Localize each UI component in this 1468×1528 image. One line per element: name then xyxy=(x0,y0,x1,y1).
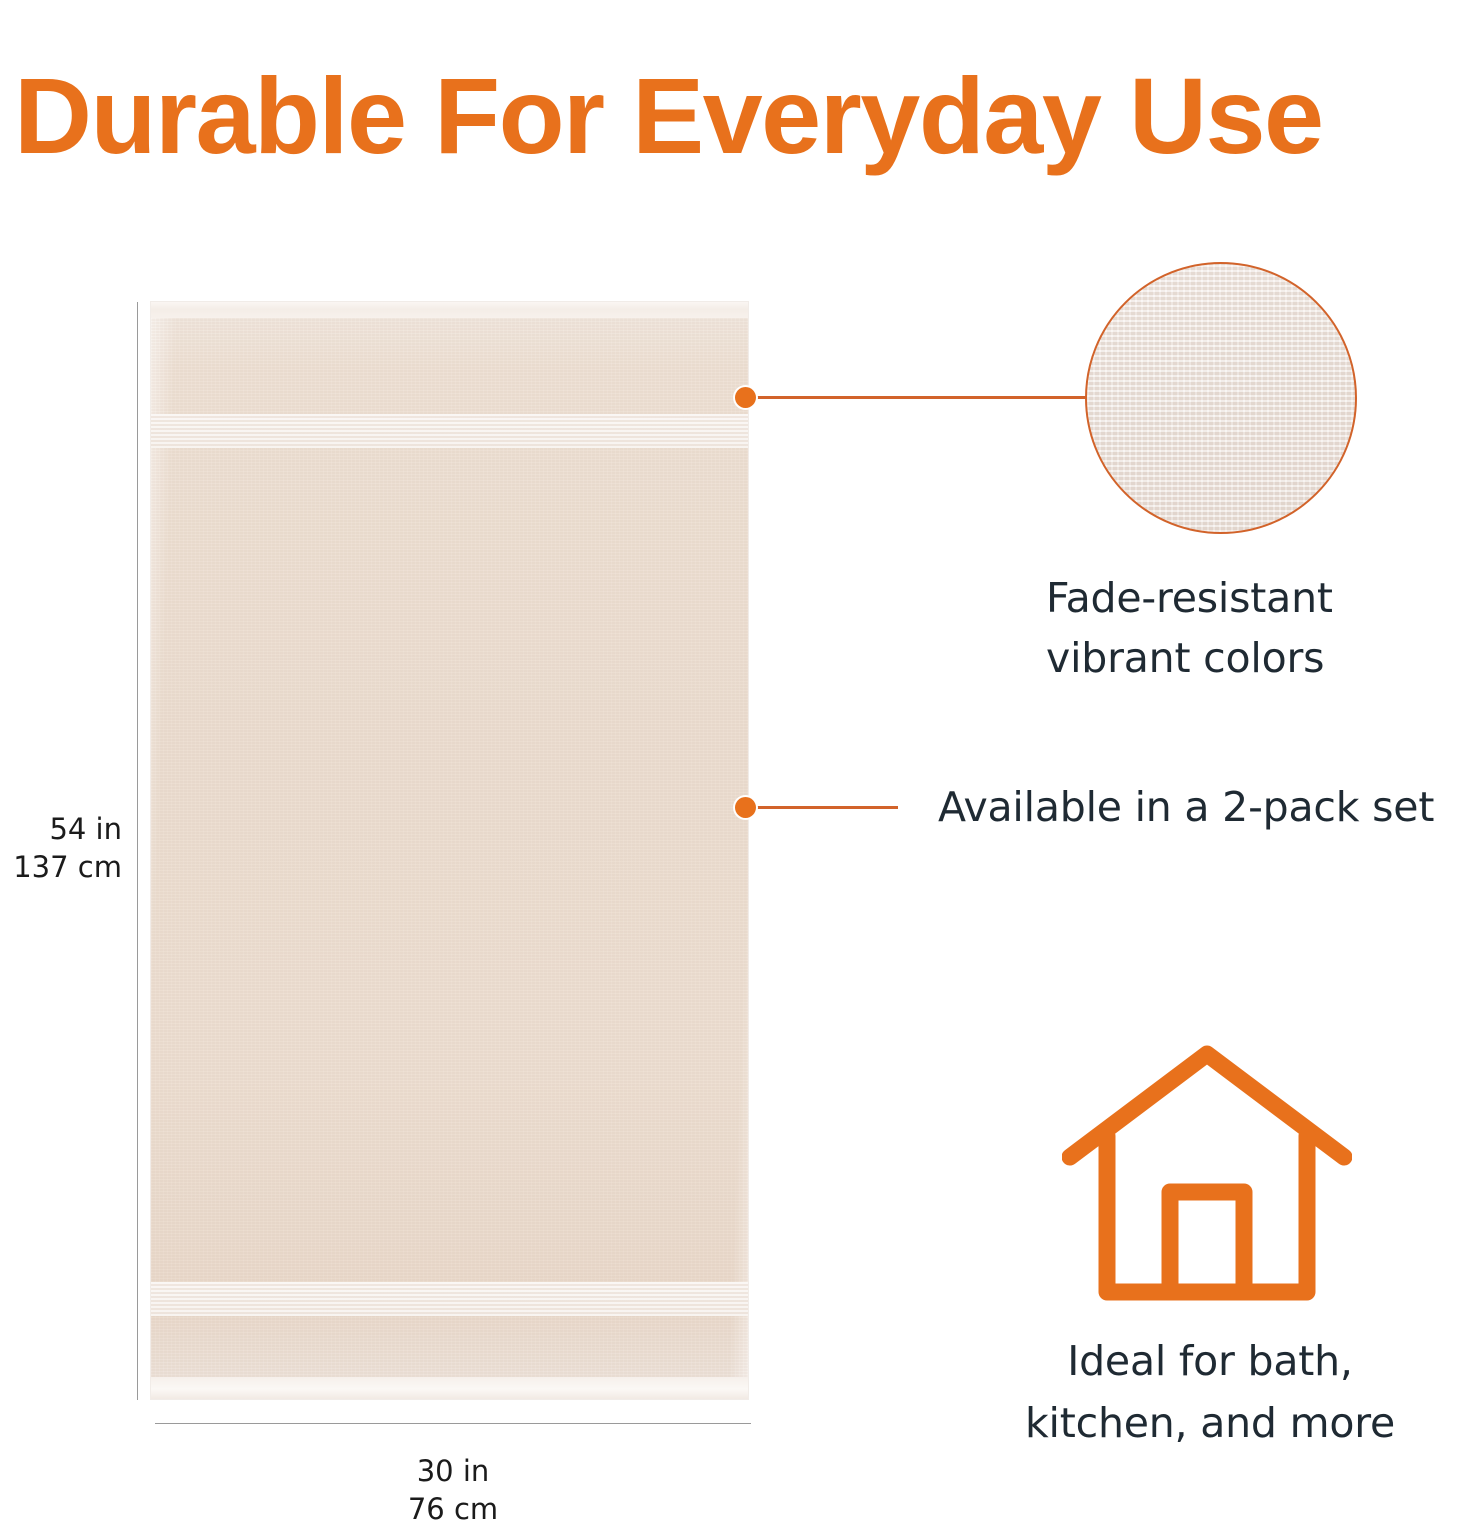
fabric-zoom-circle xyxy=(1085,262,1357,534)
dimension-height-label: 54 in 137 cm xyxy=(0,810,122,886)
callout-text-fade-resistant: Fade-resistant vibrant colors xyxy=(1046,568,1436,688)
towel-terry-texture xyxy=(151,302,748,1399)
callout-3-line-2: kitchen, and more xyxy=(1000,1392,1420,1454)
page-title: Durable For Everyday Use xyxy=(14,56,1462,176)
towel-hem-bottom xyxy=(151,1377,748,1399)
callout-text-two-pack: Available in a 2-pack set xyxy=(938,780,1458,835)
callout-text-ideal-for: Ideal for bath, kitchen, and more xyxy=(1000,1330,1420,1454)
house-icon xyxy=(1062,1042,1352,1304)
dimension-height-cm: 137 cm xyxy=(0,848,122,886)
dimension-width-inches: 30 in xyxy=(155,1452,751,1490)
callout-1-line-1: Fade-resistant xyxy=(1046,568,1436,628)
towel-dobby-band-top xyxy=(151,414,748,448)
dimension-width-cm: 76 cm xyxy=(155,1490,751,1528)
towel-product-image xyxy=(151,302,748,1399)
callout-connector-dot-2 xyxy=(735,797,756,818)
callout-1-line-2: vibrant colors xyxy=(1046,628,1436,688)
towel-hem-top xyxy=(151,302,748,318)
dimension-line-horizontal xyxy=(155,1423,751,1424)
callout-connector-dot-1 xyxy=(735,387,756,408)
callout-2-line-1: Available in a 2-pack set xyxy=(938,780,1458,835)
dimension-width-label: 30 in 76 cm xyxy=(155,1452,751,1528)
callout-3-line-1: Ideal for bath, xyxy=(1000,1330,1420,1392)
dimension-height-inches: 54 in xyxy=(0,810,122,848)
dimension-line-vertical xyxy=(137,302,138,1400)
towel-dobby-band-bottom xyxy=(151,1282,748,1316)
callout-connector-line-2 xyxy=(745,806,898,809)
callout-connector-line-1 xyxy=(745,396,1093,399)
